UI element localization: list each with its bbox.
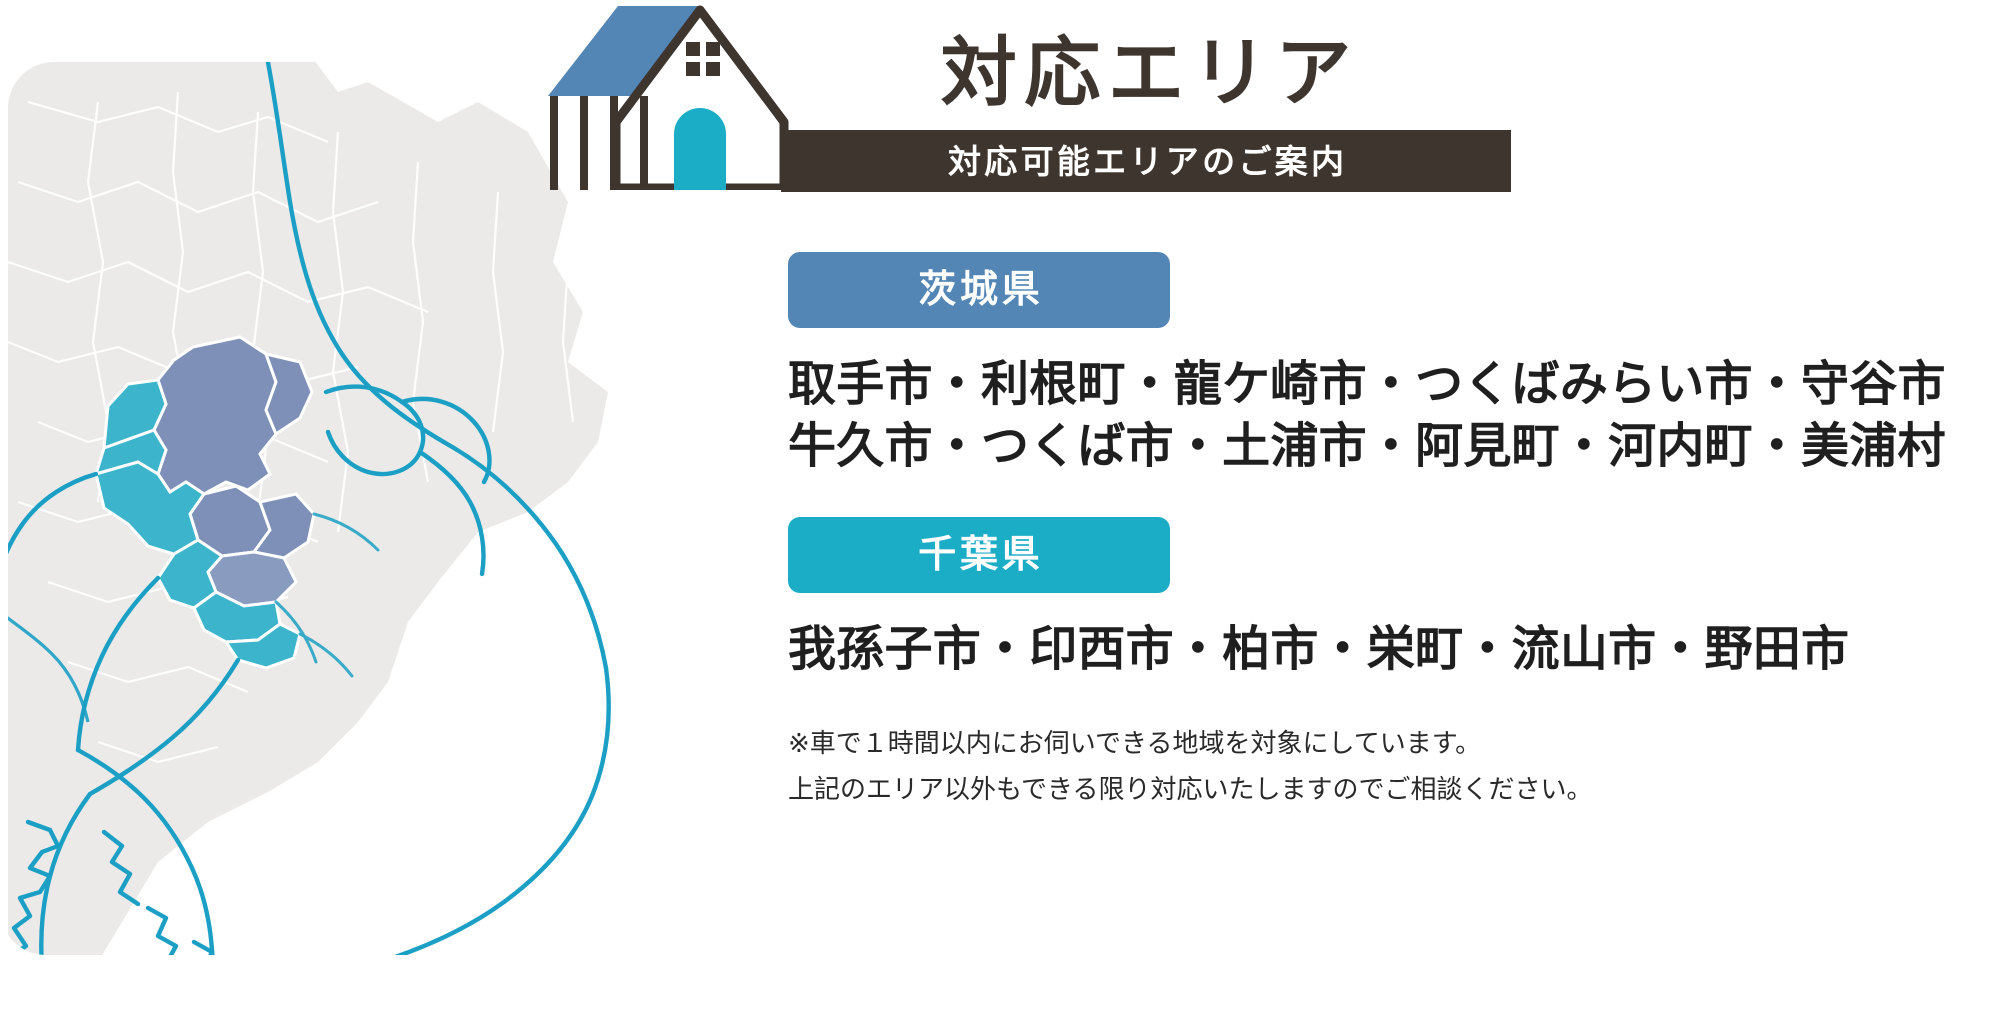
prefecture-badge-ibaraki: 茨城県 xyxy=(788,252,1170,328)
city-list-chiba-line-1: 我孫子市・印西市・柏市・栄町・流山市・野田市 xyxy=(788,619,1968,681)
city-list-ibaraki-line-2: 牛久市・つくば市・土浦市・阿見町・河内町・美浦村 xyxy=(788,416,1968,478)
page-subtitle: 対応可能エリアのご案内 xyxy=(945,145,1348,178)
area-list-panel: 茨城県 取手市・利根町・龍ケ崎市・つくばみらい市・守谷市 牛久市・つくば市・土浦… xyxy=(788,252,1968,812)
house-door-icon xyxy=(674,108,726,190)
content-card: 茨城県 取手市・利根町・龍ケ崎市・つくばみらい市・守谷市 牛久市・つくば市・土浦… xyxy=(8,62,1992,1017)
page-title-bar: 対応エリア xyxy=(781,18,1511,130)
prefecture-badge-chiba: 千葉県 xyxy=(788,517,1170,593)
title-banner: 対応エリア 対応可能エリアのご案内 xyxy=(781,18,1511,186)
house-icon xyxy=(540,0,840,190)
page-title: 対応エリア xyxy=(933,36,1359,112)
note-line-2: 上記のエリア以外もできる限り対応いたしますのでご相談ください。 xyxy=(788,767,1968,813)
note-line-1: ※車で１時間以内にお伺いできる地域を対象にしています。 xyxy=(788,721,1968,767)
kanto-region-map xyxy=(8,62,768,1017)
page-subtitle-bar: 対応可能エリアのご案内 xyxy=(781,130,1511,192)
city-list-ibaraki-line-1: 取手市・利根町・龍ケ崎市・つくばみらい市・守谷市 xyxy=(788,354,1968,416)
service-area-graphic: 茨城県 取手市・利根町・龍ケ崎市・つくばみらい市・守谷市 牛久市・つくば市・土浦… xyxy=(0,0,2000,1024)
header-banner: 対応エリア 対応可能エリアのご案内 xyxy=(540,0,1540,190)
